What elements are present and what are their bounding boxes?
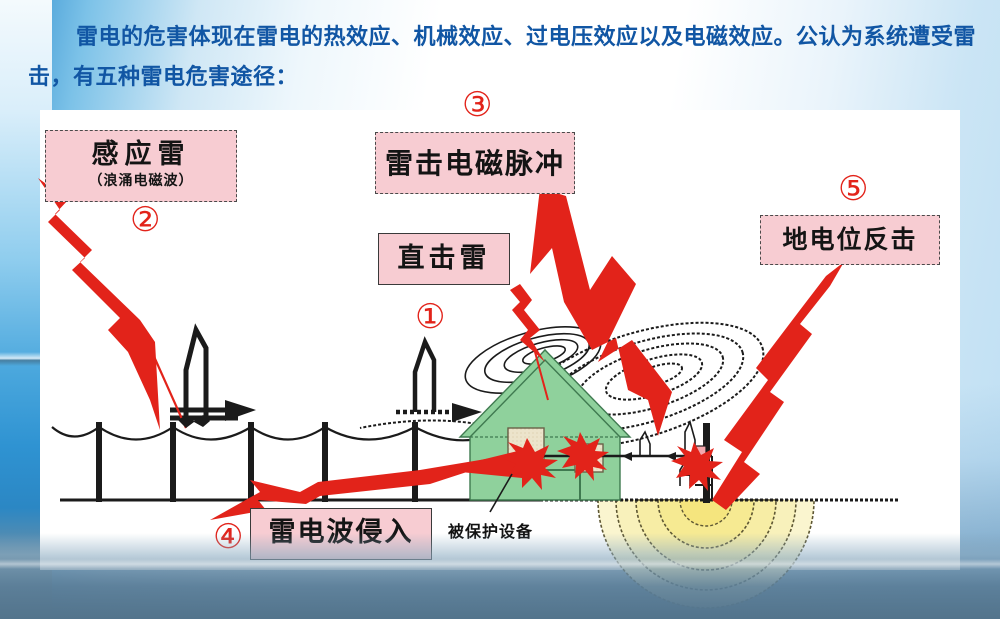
- bottom-blue-band: [0, 533, 1000, 619]
- label-induced-lightning-main: 感应雷: [46, 139, 236, 171]
- label-direct-strike[interactable]: 直击雷: [378, 233, 510, 285]
- slide-root: 雷电的危害体现在雷电的热效应、机械效应、过电压效应以及电磁效应。公认为系统遭受雷…: [0, 0, 1000, 619]
- label-induced-lightning[interactable]: 感应雷 （浪涌电磁波）: [45, 130, 237, 202]
- page-title: 雷电的危害体现在雷电的热效应、机械效应、过电压效应以及电磁效应。公认为系统遭受雷…: [28, 18, 980, 98]
- marker-number-5: ⑤: [838, 172, 868, 206]
- marker-number-3: ③: [462, 88, 492, 122]
- label-direct-strike-main: 直击雷: [379, 241, 509, 277]
- marker-number-1: ①: [415, 300, 445, 334]
- label-ground-potential-backflash[interactable]: 地电位反击: [760, 215, 940, 265]
- marker-number-2: ②: [130, 203, 160, 237]
- label-lightning-emp[interactable]: 雷击电磁脉冲: [375, 132, 575, 194]
- label-ground-potential-backflash-main: 地电位反击: [761, 222, 939, 258]
- label-lightning-emp-main: 雷击电磁脉冲: [376, 145, 574, 183]
- label-induced-lightning-sub: （浪涌电磁波）: [46, 171, 236, 191]
